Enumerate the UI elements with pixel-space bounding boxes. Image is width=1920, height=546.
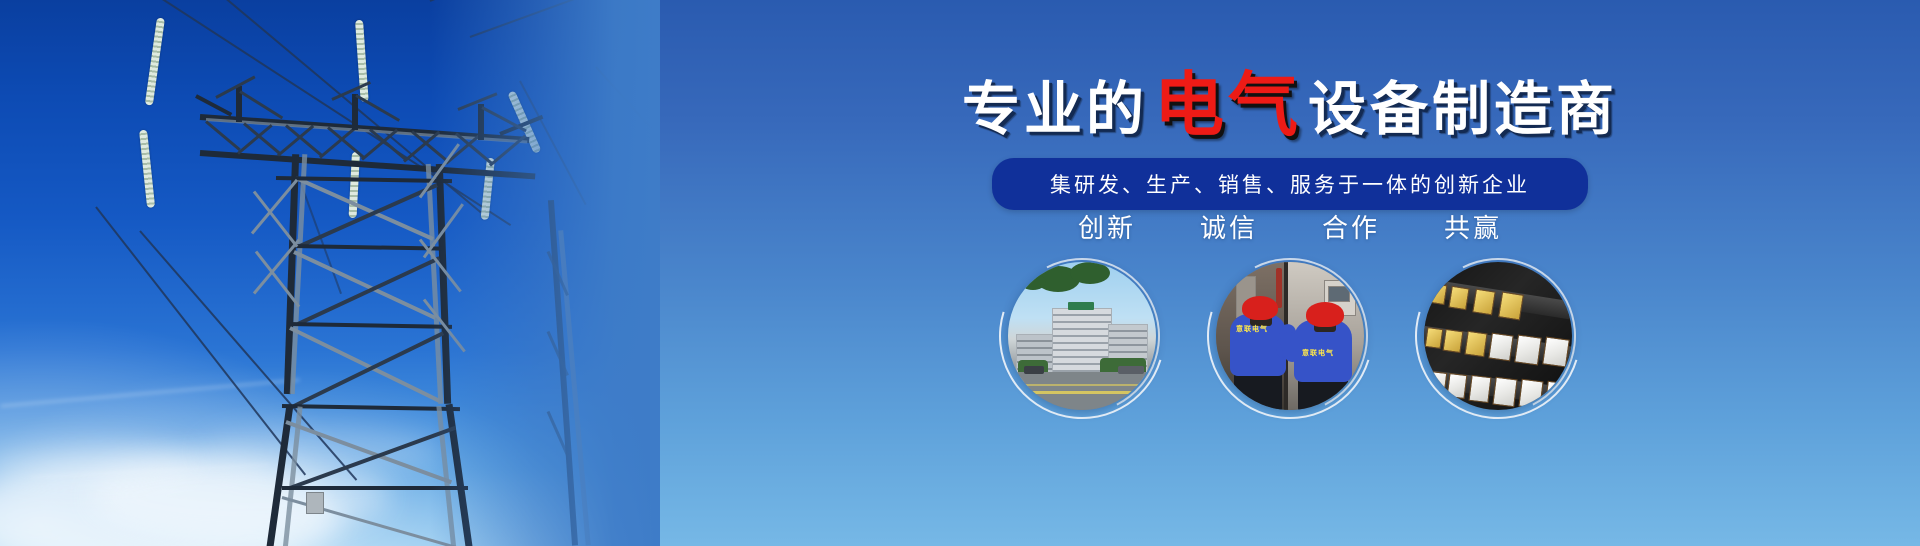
keyword-cooperation: 合作 [1322,208,1380,245]
technicians-illustration: 意联电气 意联电气 [1216,262,1364,410]
truss-member [299,183,438,248]
power-line [95,206,306,475]
award-plaque [1443,329,1464,353]
circle-photo-certificate-wall[interactable] [1424,262,1572,410]
headline-part2: 设备制造商 [1308,77,1618,142]
uniform-logo-text: 意联电气 [1236,324,1268,334]
truss-member [285,124,322,156]
certificate-frame [1429,371,1448,395]
keyword-integrity: 诚信 [1200,208,1258,245]
certificate-frame [1542,336,1570,367]
car-shape [1118,366,1144,374]
award-plaque [1425,327,1444,349]
truss-member [289,326,440,402]
certificate-frame [1468,375,1491,403]
truss-member [239,90,283,119]
truss-belt [292,244,444,251]
circle-photo-office-building[interactable] [1008,262,1156,410]
circle-image-mask: 意联电气 意联电气 [1216,262,1364,410]
truss-member [319,127,356,159]
keyword-innovation: 创新 [1078,208,1136,245]
banner-content: 专业的电气设备制造商 集研发、生产、销售、服务于一体的创新企业 创新 诚信 合作… [660,0,1920,546]
headline-highlight: 电气 [1154,66,1302,144]
truss-member [243,122,280,154]
certificate-frame [1518,379,1543,409]
headline-part1: 专业的 [962,77,1148,142]
circle-photo-row: 意联电气 意联电气 [660,262,1920,410]
truss-member [277,125,314,157]
certificate-frame [1514,334,1542,365]
award-plaque [1464,331,1487,358]
worker-legs [1234,372,1282,410]
certificate-frame [1492,377,1517,407]
keyword-row: 创新 诚信 合作 共赢 [660,208,1920,245]
red-pipe [1276,268,1282,308]
truss-member [297,256,440,326]
truss-belt [288,322,452,329]
award-plaque [1498,291,1524,320]
safety-helmet-icon [1242,296,1278,320]
certificate-frame [1544,381,1569,410]
circle-image-mask [1424,262,1572,410]
insulator-string [139,130,155,208]
road-marking [1014,384,1144,386]
photo-gradient-fade [430,0,660,546]
contrail-streak [0,379,299,407]
tree-shape [1070,262,1110,284]
award-plaque [1429,283,1448,305]
circle-photo-technicians[interactable]: 意联电气 意联电气 [1216,262,1364,410]
car-shape [1024,366,1044,374]
truss-member [355,94,400,122]
cabinet-screen [1328,286,1350,302]
insulator-string [145,17,165,105]
certificate-frame [1488,333,1513,362]
truss-member [293,250,436,320]
subtitle-pill: 集研发、生产、销售、服务于一体的创新企业 [992,158,1588,210]
truss-member [205,120,241,151]
award-plaque [1472,289,1496,316]
headline: 专业的电气设备制造商 [660,70,1920,140]
tower-hardware-box [306,492,324,514]
tower-peak [352,94,358,130]
road-marking [1014,391,1144,394]
award-plaque [1448,286,1469,311]
safety-helmet-icon [1306,302,1344,327]
truss-member [237,124,273,155]
uniform-logo-text: 意联电气 [1302,348,1334,358]
rooftop-sign [1068,302,1094,310]
keyword-winwin: 共赢 [1444,208,1502,245]
truss-member [361,129,398,161]
certificate-wall-illustration [1424,262,1572,410]
truss-member [295,176,434,241]
transmission-tower-photo [0,0,660,546]
tree-shape [1020,274,1046,290]
circle-image-mask [1008,262,1156,410]
hero-banner: 专业的电气设备制造商 集研发、生产、销售、服务于一体的创新企业 创新 诚信 合作… [0,0,1920,546]
certificate-frame [1447,373,1468,399]
office-building-illustration [1008,262,1156,410]
subtitle-pill-wrapper: 集研发、生产、销售、服务于一体的创新企业 [660,158,1920,210]
